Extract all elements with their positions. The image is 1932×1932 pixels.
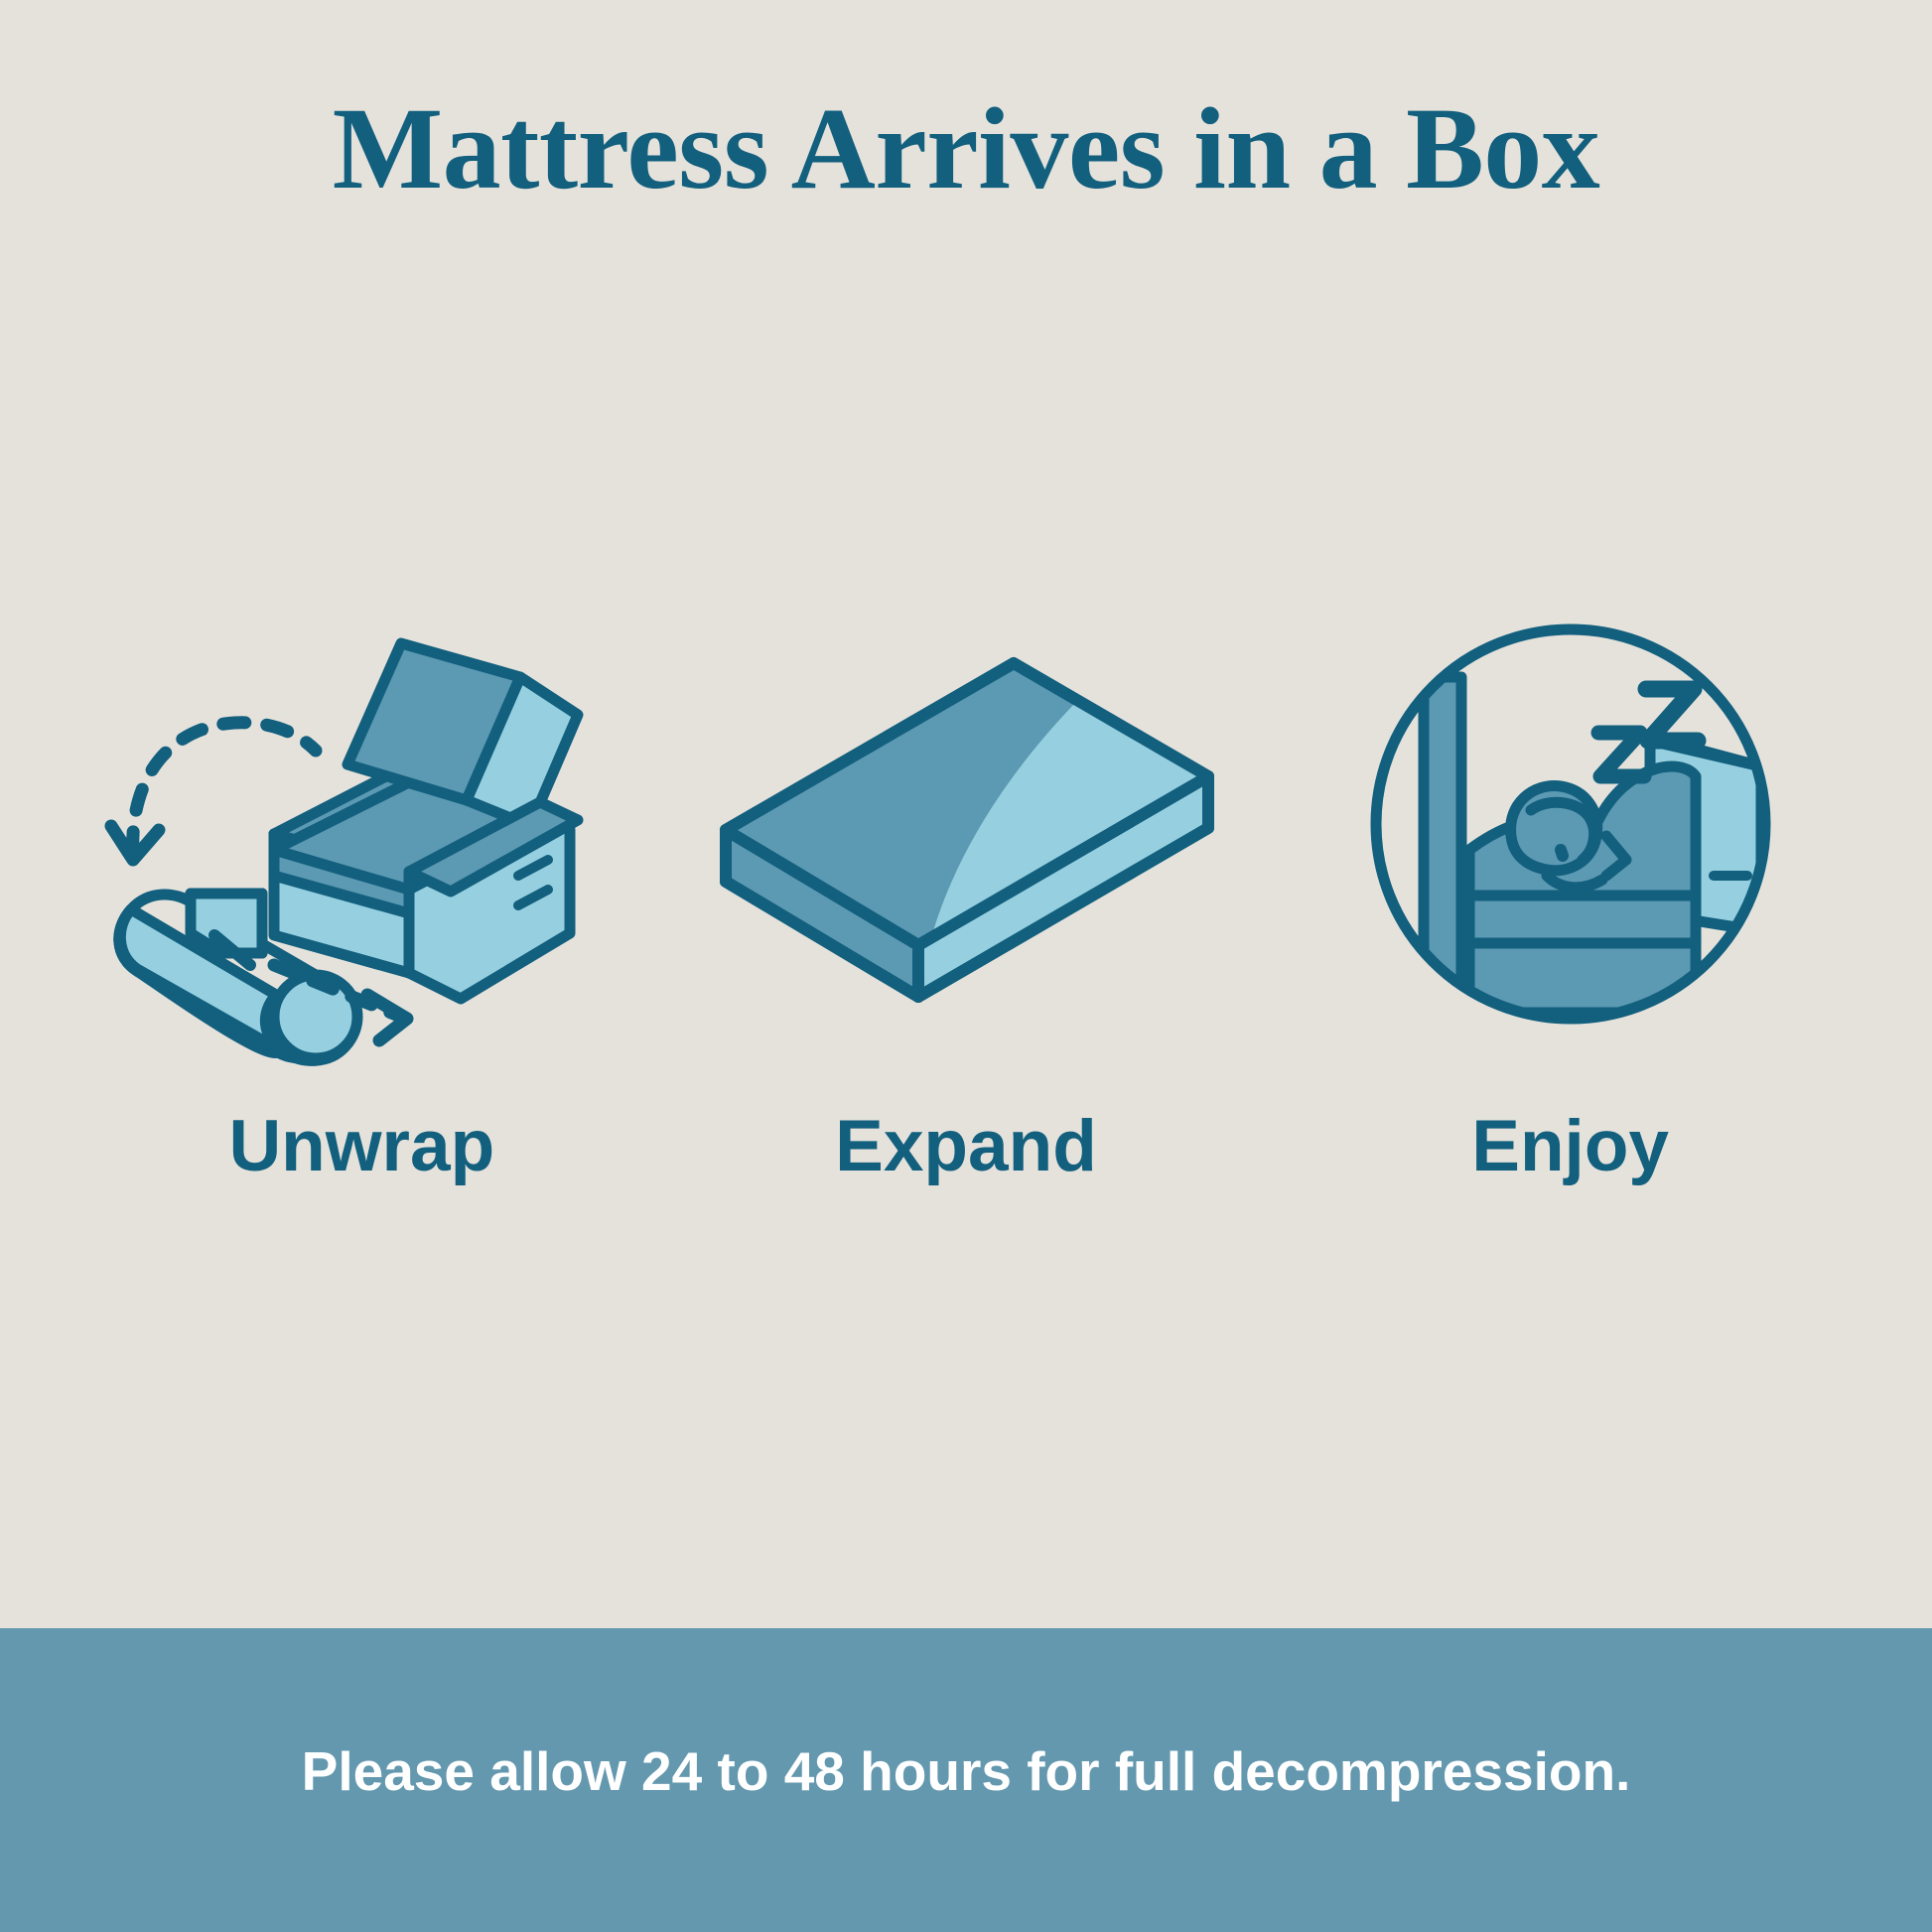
footer-banner-text: Please allow 24 to 48 hours for full dec… xyxy=(302,1744,1631,1799)
open-box-with-rolled-mattress-icon xyxy=(103,616,620,1033)
step-label-expand: Expand xyxy=(835,1110,1097,1182)
page-title-container: Mattress Arrives in a Box xyxy=(0,0,1932,298)
footer-banner: Please allow 24 to 48 hours for full dec… xyxy=(0,1628,1932,1932)
flat-mattress-icon xyxy=(708,616,1224,1033)
step-label-enjoy: Enjoy xyxy=(1471,1110,1669,1182)
steps-row: Unwrap xyxy=(0,616,1932,1370)
infographic-page: Mattress Arrives in a Box xyxy=(0,0,1932,1932)
step-unwrap: Unwrap xyxy=(83,616,639,1182)
step-enjoy: Enjoy xyxy=(1293,616,1849,1182)
person-sleeping-in-bed-icon xyxy=(1312,616,1829,1033)
page-title: Mattress Arrives in a Box xyxy=(333,90,1600,207)
step-expand: Expand xyxy=(688,616,1244,1182)
step-label-unwrap: Unwrap xyxy=(228,1110,494,1182)
